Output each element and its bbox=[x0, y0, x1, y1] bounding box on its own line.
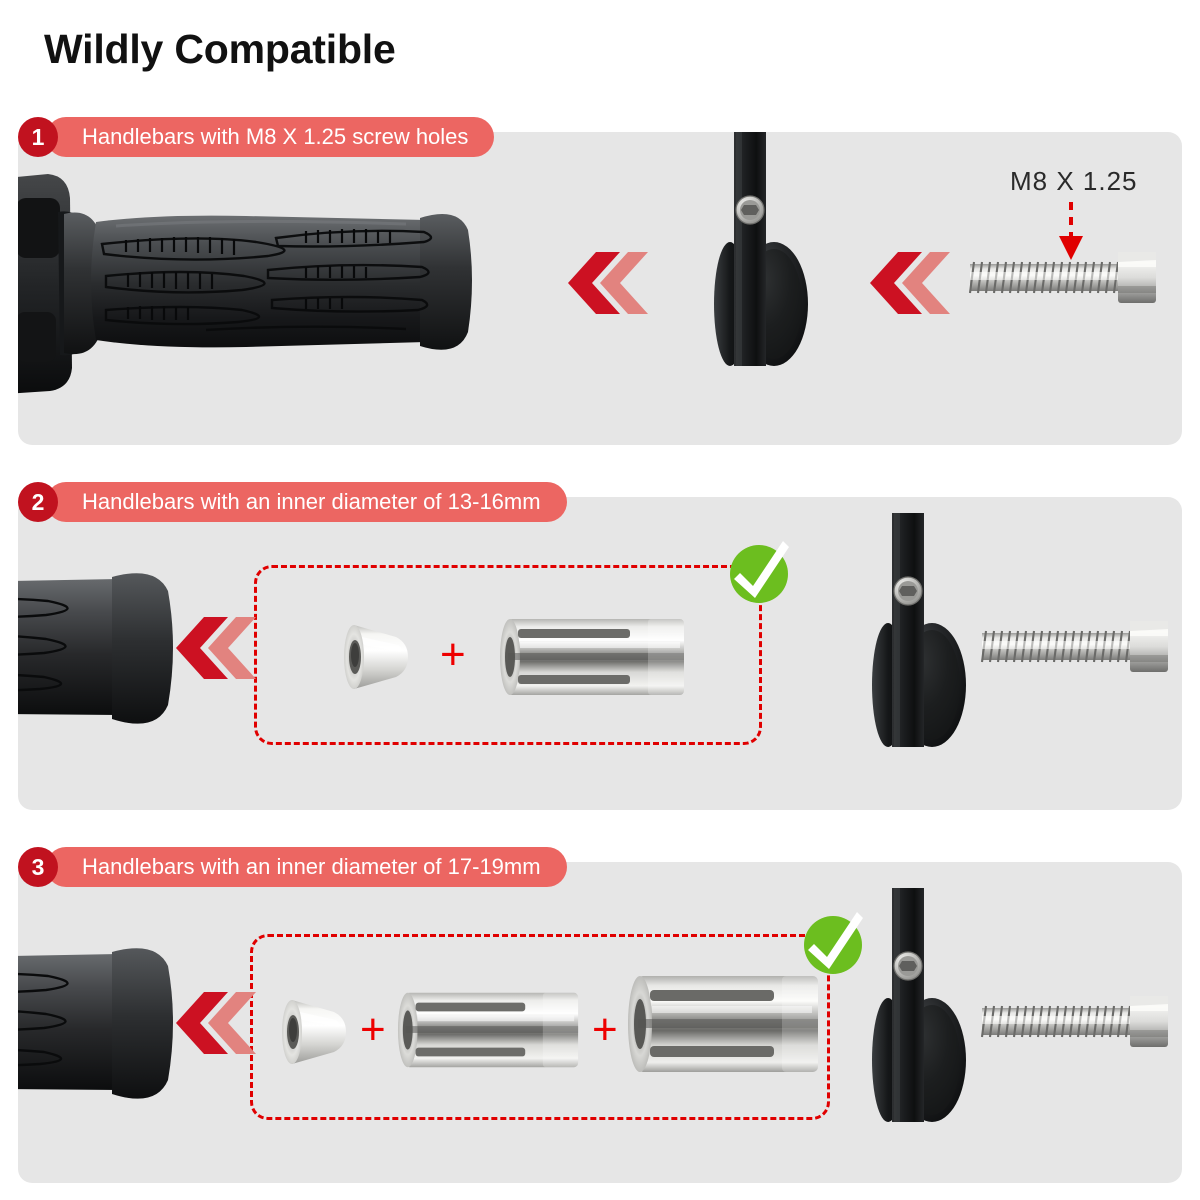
plus-separator: + bbox=[440, 633, 466, 677]
m8-callout-label: M8 X 1.25 bbox=[1010, 166, 1138, 197]
panel-number-badge: 3 bbox=[18, 847, 58, 887]
green-check-icon bbox=[726, 539, 792, 605]
callout-arrow-icon bbox=[1056, 202, 1086, 269]
bar-end-mirror-mount-icon bbox=[708, 132, 818, 382]
panel-heading-pill: Handlebars with an inner diameter of 17-… bbox=[46, 847, 567, 887]
panel-2-header: 2 Handlebars with an inner diameter of 1… bbox=[18, 480, 567, 524]
compatibility-panel-1: M8 X 1.25 bbox=[18, 132, 1182, 445]
panel-1-header: 1 Handlebars with M8 X 1.25 screw holes bbox=[18, 115, 494, 159]
panel-number-badge: 1 bbox=[18, 117, 58, 157]
compatibility-panel-3: + + bbox=[18, 862, 1182, 1183]
panel-heading-pill: Handlebars with an inner diameter of 13-… bbox=[46, 482, 567, 522]
slotted-sleeve-small-icon bbox=[396, 988, 582, 1072]
m8-socket-head-screw-icon bbox=[980, 988, 1180, 1054]
plus-separator: + bbox=[360, 1008, 386, 1052]
handlebar-grip-icon bbox=[18, 565, 188, 735]
page-title: Wildly Compatible bbox=[44, 26, 396, 73]
double-chevron-left-icon bbox=[558, 250, 648, 316]
panel-heading-pill: Handlebars with M8 X 1.25 screw holes bbox=[46, 117, 494, 157]
infographic-page: Wildly Compatible bbox=[0, 0, 1200, 1200]
green-check-icon bbox=[800, 910, 866, 976]
double-chevron-left-icon bbox=[166, 990, 256, 1056]
handlebar-grip-icon bbox=[18, 940, 188, 1110]
handlebar-grip-icon bbox=[18, 172, 506, 407]
panel-3-header: 3 Handlebars with an inner diameter of 1… bbox=[18, 845, 567, 889]
double-chevron-left-icon bbox=[860, 250, 950, 316]
bar-end-mirror-mount-icon bbox=[866, 513, 976, 763]
cone-nut-icon bbox=[338, 621, 414, 693]
plus-separator: + bbox=[592, 1008, 618, 1052]
slotted-sleeve-small-icon bbox=[498, 615, 688, 699]
cone-nut-icon bbox=[276, 996, 352, 1068]
bar-end-mirror-mount-icon bbox=[866, 888, 976, 1138]
compatibility-panel-2: + bbox=[18, 497, 1182, 810]
double-chevron-left-icon bbox=[166, 615, 256, 681]
m8-socket-head-screw-icon bbox=[980, 613, 1180, 679]
slotted-sleeve-large-icon bbox=[626, 972, 822, 1078]
panel-number-badge: 2 bbox=[18, 482, 58, 522]
